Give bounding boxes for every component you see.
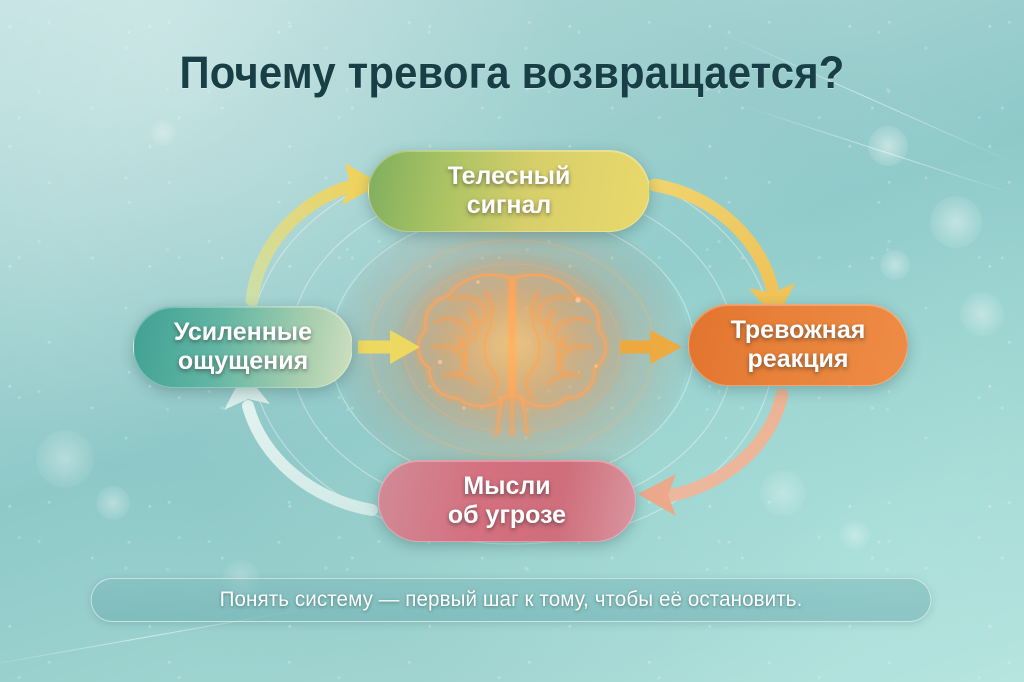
node-top-label: Телесный сигнал <box>448 162 571 221</box>
arrow-top-to-right <box>655 185 795 320</box>
node-bottom-label: Мысли об угрозе <box>448 472 566 531</box>
arrow-left-to-center <box>358 330 420 364</box>
node-bottom-line1: Мысли <box>463 472 550 500</box>
node-anxious-reaction[interactable]: Тревожная реакция <box>688 304 908 386</box>
node-top-line1: Телесный <box>448 162 571 190</box>
node-right-line2: реакция <box>748 345 849 373</box>
node-bottom-line2: об угрозе <box>448 501 566 529</box>
node-top-line2: сигнал <box>467 191 552 219</box>
node-right-line1: Тревожная <box>731 316 866 344</box>
node-left-line1: Усиленные <box>174 318 312 346</box>
node-left-line2: ощущения <box>178 347 308 375</box>
arrow-center-to-right <box>620 330 682 364</box>
footer-caption: Понять систему — первый шаг к тому, чтоб… <box>91 578 932 622</box>
node-threat-thoughts[interactable]: Мысли об угрозе <box>378 460 636 542</box>
node-right-label: Тревожная реакция <box>731 316 866 375</box>
node-amplified-sensations[interactable]: Усиленные ощущения <box>133 306 353 388</box>
arrow-right-to-bottom <box>638 395 782 516</box>
infographic-canvas: Почему тревога возвращается? <box>0 0 1024 682</box>
arrow-left-to-top <box>252 163 381 300</box>
arrow-bottom-to-left <box>224 372 372 510</box>
node-left-label: Усиленные ощущения <box>174 318 312 377</box>
node-bodily-signal[interactable]: Телесный сигнал <box>368 150 650 232</box>
